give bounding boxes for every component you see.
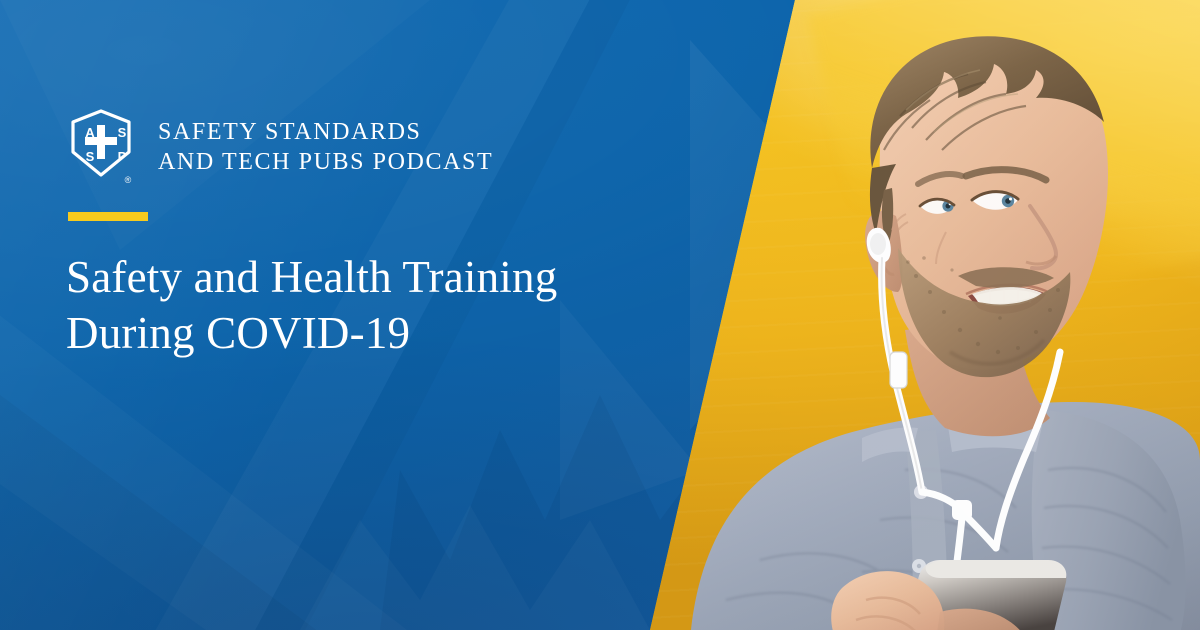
brand-line-1: SAFETY STANDARDS xyxy=(158,119,422,145)
logo-letter-p: P xyxy=(118,149,127,164)
episode-title: Safety and Health Training During COVID-… xyxy=(66,249,557,361)
podcast-brand-title: SAFETY STANDARDS AND TECH PUBS PODCAST xyxy=(158,117,493,177)
brand-line-2: AND TECH PUBS PODCAST xyxy=(158,147,493,177)
brand-lockup: A S S P ® SAFETY STANDARDS AND TECH PUBS… xyxy=(66,108,493,186)
registered-trademark-icon: ® xyxy=(125,175,132,185)
yellow-accent-bar xyxy=(68,212,148,221)
episode-title-line-2: During COVID-19 xyxy=(66,305,557,361)
logo-letter-s-top: S xyxy=(118,125,127,140)
assp-shield-logo: A S S P ® xyxy=(66,108,136,186)
logo-letter-s-bottom: S xyxy=(86,149,95,164)
logo-letter-a: A xyxy=(85,125,95,140)
podcast-cover: A S S P ® SAFETY STANDARDS AND TECH PUBS… xyxy=(0,0,1200,630)
episode-title-line-1: Safety and Health Training xyxy=(66,252,557,302)
